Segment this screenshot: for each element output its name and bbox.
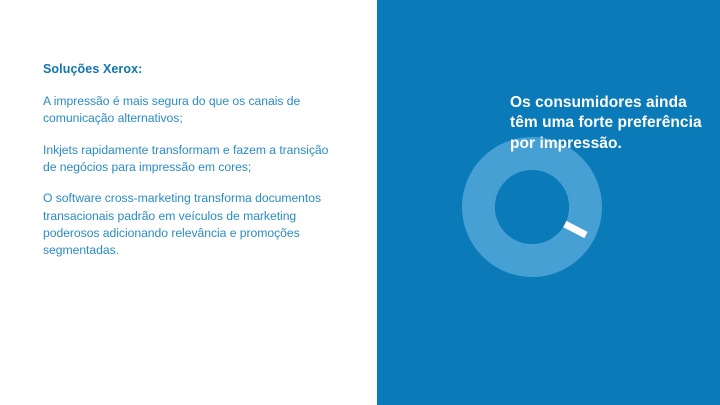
body-paragraph-security: A impressão é mais segura do que os cana…	[43, 93, 343, 128]
solutions-text-block: Soluções Xerox: A impressão é mais segur…	[43, 61, 343, 260]
donut-inner-hole	[495, 170, 569, 244]
slide-root: Soluções Xerox: A impressão é mais segur…	[0, 0, 720, 405]
left-content-panel: Soluções Xerox: A impressão é mais segur…	[0, 0, 377, 405]
body-paragraph-inkjets: Inkjets rapidamente transformam e fazem …	[43, 142, 343, 177]
callout-headline: Os consumidores ainda têm uma forte pref…	[510, 93, 710, 154]
solutions-heading: Soluções Xerox:	[43, 61, 343, 78]
right-accent-panel: Os consumidores ainda têm uma forte pref…	[377, 0, 720, 405]
body-paragraph-cross-marketing: O software cross-marketing transforma do…	[43, 190, 343, 259]
